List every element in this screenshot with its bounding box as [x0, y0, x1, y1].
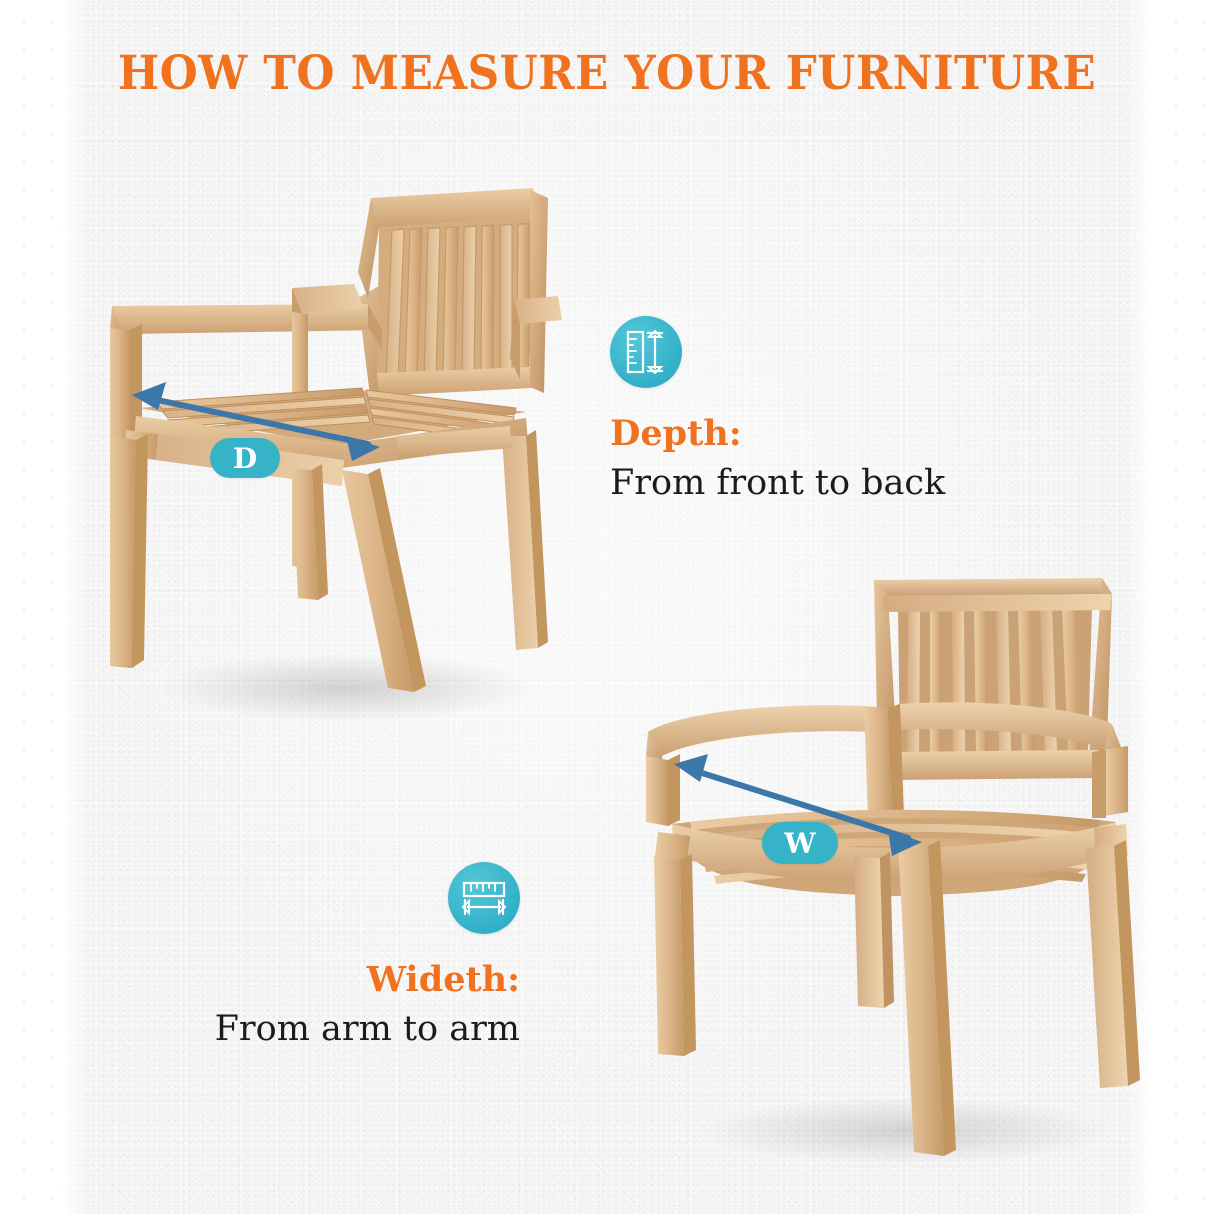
width-icon-badge — [448, 862, 520, 934]
depth-marker-pill: D — [210, 438, 280, 478]
depth-icon-badge — [610, 316, 682, 388]
arrow-head-left — [132, 382, 166, 410]
width-description: From arm to arm — [190, 1009, 520, 1049]
left-margin-band — [0, 0, 62, 1214]
vertical-ruler-depth-icon — [625, 329, 667, 375]
width-label: Wideth: — [190, 962, 520, 997]
right-dot-pattern — [1152, 0, 1214, 1214]
arrow-head-left — [674, 754, 708, 782]
width-marker-pill: W — [762, 822, 838, 864]
left-edge-fade — [62, 0, 88, 1214]
width-icon-row — [190, 862, 520, 934]
depth-marker-letter: D — [233, 442, 257, 475]
depth-label: Depth: — [610, 416, 945, 451]
left-dot-pattern — [0, 0, 62, 1214]
depth-callout: Depth: From front to back — [610, 316, 945, 503]
depth-measurement-arrow — [96, 168, 566, 738]
width-measurement-arrow — [636, 556, 1146, 1176]
right-margin-band — [1152, 0, 1214, 1214]
width-callout: Wideth: From arm to arm — [190, 862, 520, 1049]
infographic-canvas: HOW TO MEASURE YOUR FURNITURE — [0, 0, 1214, 1214]
width-marker-letter: W — [784, 827, 815, 860]
horizontal-ruler-width-icon — [461, 877, 507, 919]
arrow-head-right — [888, 830, 922, 856]
arrow-head-right — [346, 436, 380, 461]
depth-description: From front to back — [610, 463, 945, 503]
page-title: HOW TO MEASURE YOUR FURNITURE — [42, 46, 1171, 101]
